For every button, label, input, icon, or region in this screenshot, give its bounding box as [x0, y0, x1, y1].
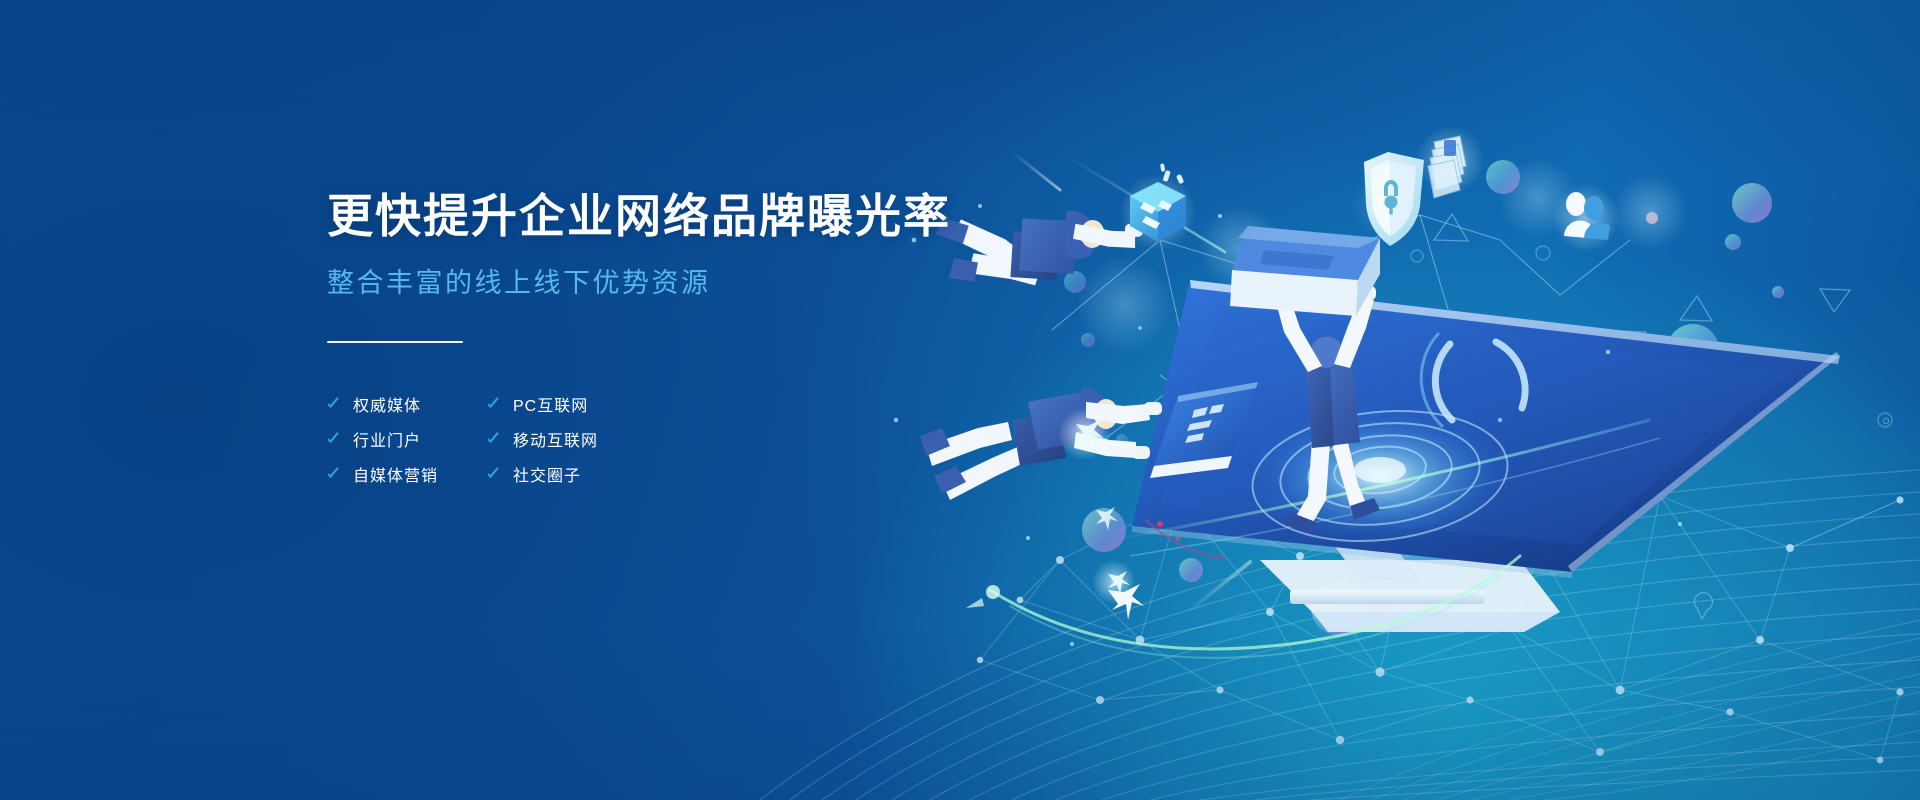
green-swoosh	[966, 556, 1520, 658]
check-icon	[327, 467, 342, 482]
check-icon	[487, 397, 502, 412]
tablet-device	[1150, 382, 1258, 478]
location-pin-outline	[1212, 300, 1713, 619]
feature-label: 权威媒体	[353, 392, 421, 416]
feature-item-4: 自媒体营销	[327, 457, 487, 492]
feature-label: 移动互联网	[513, 427, 598, 451]
check-icon	[487, 432, 502, 447]
layers-icon	[1416, 126, 1484, 198]
feature-label: PC互联网	[513, 392, 588, 416]
desktop-monitor	[1110, 280, 1840, 632]
check-icon	[327, 397, 342, 412]
feature-label: 社交圈子	[513, 462, 581, 486]
shield-lock-icon	[1364, 152, 1424, 246]
triangle-outline	[1236, 214, 1850, 449]
comet-streak	[1012, 152, 1760, 615]
people-icon	[1552, 184, 1620, 252]
feature-label: 自媒体营销	[353, 462, 438, 486]
wave-lines-dense	[1340, 620, 1920, 800]
feature-list: 权威媒体 PC互联网 行业门户 移动互联网 自媒体营销 社交圈子	[327, 387, 1087, 492]
network-mesh-nodes	[977, 492, 1904, 764]
feature-item-3: 移动互联网	[487, 422, 1087, 457]
vortex-swirl	[1240, 399, 1520, 553]
feature-label: 行业门户	[353, 427, 421, 451]
feature-item-5: 社交圈子	[487, 457, 1087, 492]
banner-headline: 更快提升企业网络品牌曝光率	[327, 188, 1087, 246]
glow-blob	[1077, 158, 1688, 353]
hero-banner: 更快提升企业网络品牌曝光率 整合丰富的线上线下优势资源 权威媒体 PC互联网 行…	[0, 0, 1920, 800]
astronaut-on-arc	[1108, 584, 1144, 620]
lifted-box	[1230, 226, 1380, 316]
person-on-monitor	[1230, 226, 1380, 534]
feature-item-0: 权威媒体	[327, 387, 487, 422]
network-mesh	[980, 496, 1900, 760]
banner-content: 更快提升企业网络品牌曝光率 整合丰富的线上线下优势资源 权威媒体 PC互联网 行…	[327, 188, 1087, 492]
gear-icon	[1411, 246, 1892, 427]
gradient-sphere	[1064, 160, 1784, 635]
check-icon	[327, 432, 342, 447]
check-icon	[487, 467, 502, 482]
feature-item-1: PC互联网	[487, 387, 1087, 422]
cube-icon	[1120, 163, 1196, 250]
icon-connector-lines	[1052, 215, 1630, 480]
divider-rule	[327, 341, 463, 343]
ring-arc	[1435, 342, 1525, 420]
wave-lines	[760, 470, 1920, 800]
banner-subheadline: 整合丰富的线上线下优势资源	[327, 266, 1087, 301]
feature-item-2: 行业门户	[327, 422, 487, 457]
